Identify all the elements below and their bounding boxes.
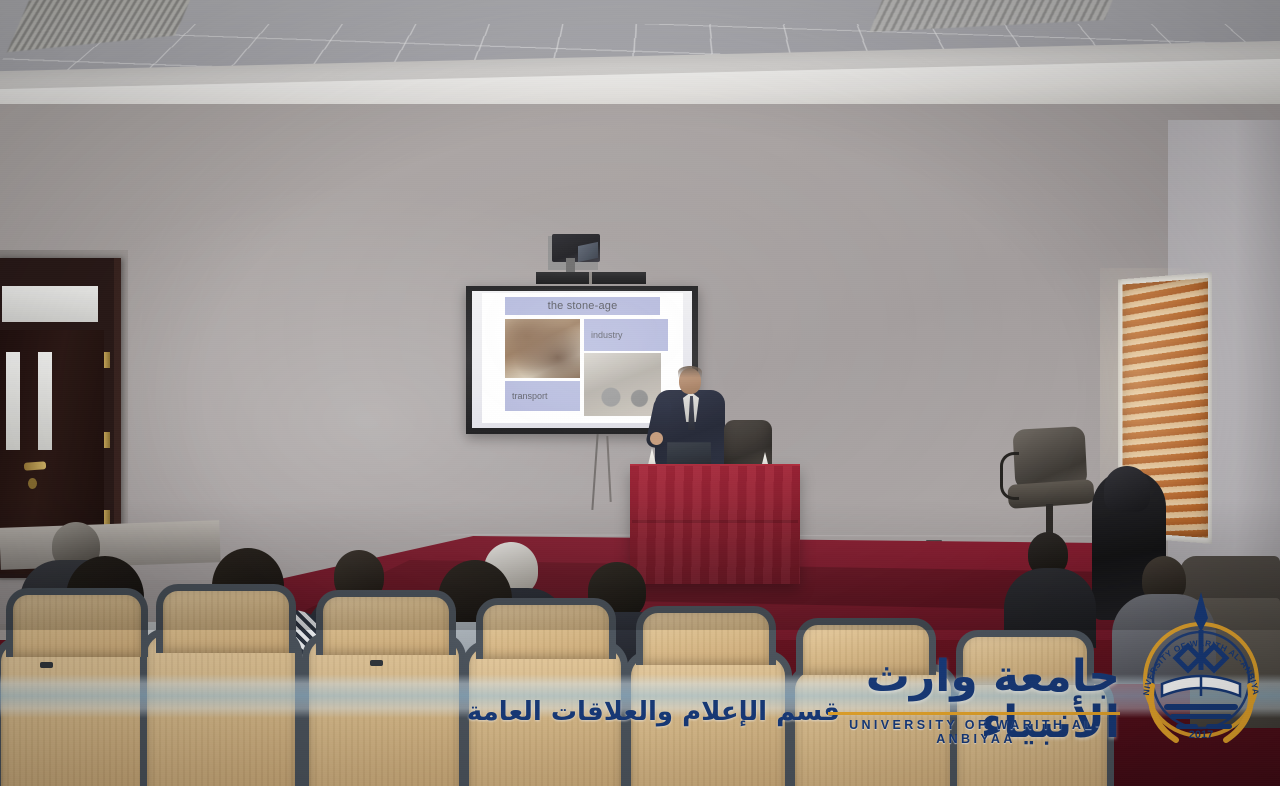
door-glass-panel	[6, 352, 20, 450]
brand-english-text: UNIVERSITY OF WARITH AL-ANBIYAA	[826, 718, 1126, 746]
photo-canvas: the stone-age industry transport	[0, 0, 1280, 786]
slide-label-transport: transport	[505, 381, 580, 411]
floor-shadow	[0, 500, 1280, 630]
watermark-brand: جامعة وارث الأنبياء UNIVERSITY OF WARITH…	[820, 652, 1140, 764]
slide-title: the stone-age	[505, 297, 660, 315]
svg-text:2017: 2017	[1189, 729, 1213, 741]
speaker-bar-divider	[589, 272, 592, 284]
door-hinge-icon	[104, 352, 110, 368]
seat-clip-icon	[370, 660, 383, 666]
presenter-hand	[650, 432, 663, 445]
list-item[interactable]	[0, 636, 154, 786]
door-transom-glass	[2, 286, 98, 322]
university-emblem-icon: UNIVERSITY OF WARITH AL-ANBIYAA 2017	[1136, 580, 1266, 752]
seat-clip-icon	[40, 662, 53, 668]
door-glass-panel	[38, 352, 52, 450]
brand-divider	[828, 712, 1120, 715]
presenter-hair	[678, 366, 702, 378]
door-handle-icon[interactable]	[24, 461, 47, 471]
chair-armrest	[1000, 452, 1019, 500]
slide-image-cavemen	[505, 319, 580, 378]
watermark-department-caption: قسم الإعلام والعلاقات العامة	[400, 697, 840, 727]
slide-image-stone-cart	[584, 353, 661, 416]
door-lock-icon[interactable]	[28, 478, 37, 489]
door-hinge-icon	[104, 432, 110, 448]
slide-label-industry: industry	[584, 319, 668, 351]
